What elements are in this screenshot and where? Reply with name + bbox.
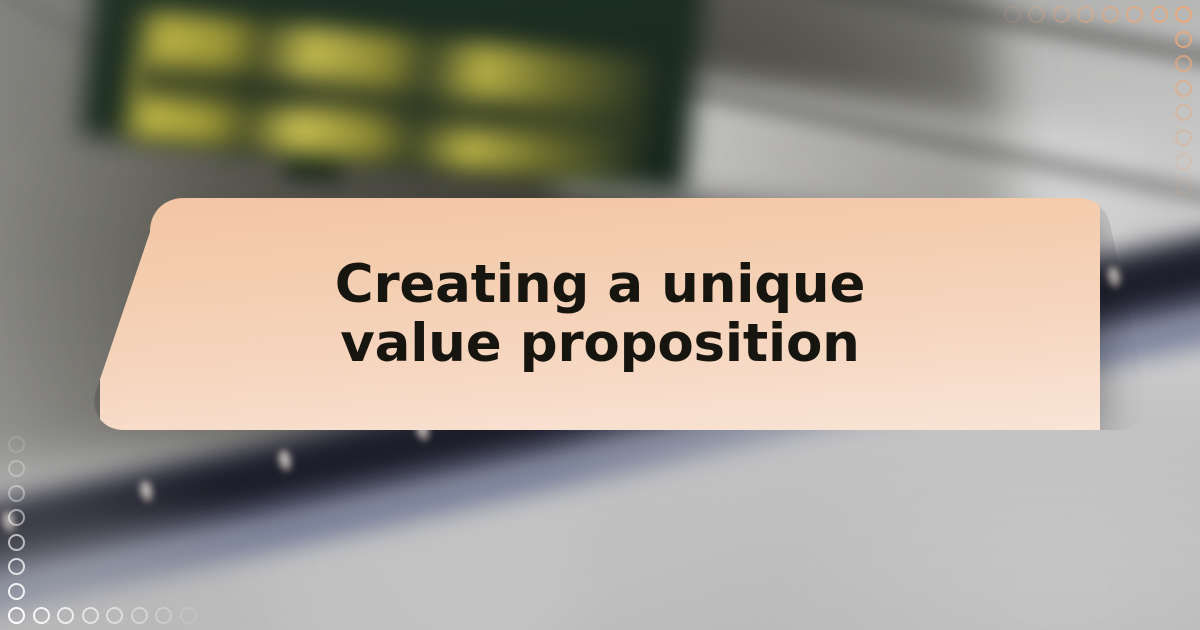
card-title: Creating a unique value proposition	[335, 255, 865, 374]
card-layer: Creating a unique value proposition	[0, 0, 1200, 630]
title-card: Creating a unique value proposition	[100, 198, 1100, 430]
title-card-content: Creating a unique value proposition	[100, 198, 1100, 430]
social-card-canvas: Creating a unique value proposition	[0, 0, 1200, 630]
